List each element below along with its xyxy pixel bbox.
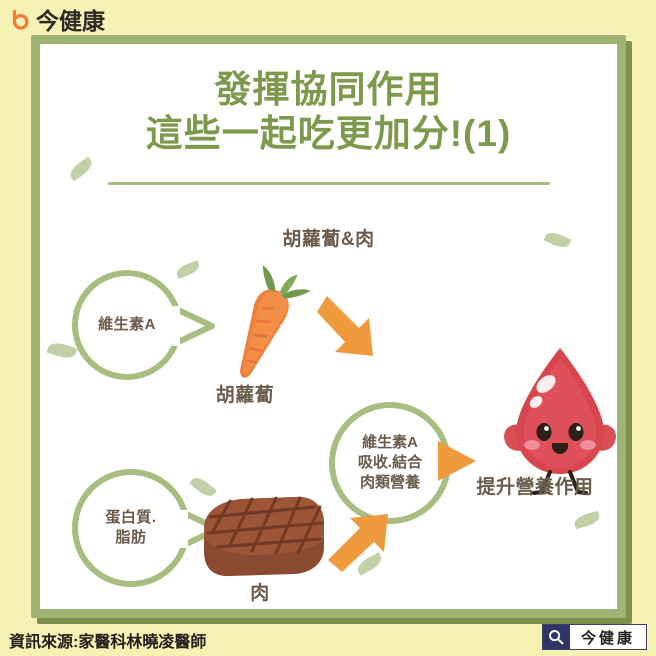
title-line-1: 發揮協同作用: [40, 68, 617, 112]
search-icon[interactable]: [543, 625, 570, 649]
page-header: 今健康: [8, 4, 105, 38]
arrow-meat-to-center-icon: [318, 474, 414, 576]
result-label: 提升營養作用: [445, 476, 617, 500]
title-line-2: 這些一起吃更加分!(1): [40, 112, 617, 156]
arrow-carrot-to-center-icon: [315, 286, 411, 386]
carrot-icon: [204, 266, 322, 396]
infographic-card: 發揮協同作用 這些一起吃更加分!(1) 胡蘿蔔&肉 維生素A: [31, 35, 626, 618]
protein-fat-bubble-label: 蛋白質. 脂肪: [105, 508, 156, 549]
leaf-decoration-icon: [175, 260, 201, 279]
steak-icon: [186, 487, 332, 587]
vitamin-a-bubble-label: 維生素A: [98, 315, 156, 335]
search-badge[interactable]: 今健康: [542, 624, 647, 650]
leaf-decoration-icon: [47, 340, 78, 361]
search-brand-label[interactable]: 今健康: [570, 625, 646, 649]
b-logo-icon: [8, 9, 32, 33]
title-divider: [108, 182, 550, 185]
leaf-decoration-icon: [573, 511, 601, 529]
protein-fat-bubble: 蛋白質. 脂肪: [72, 469, 190, 587]
leaf-decoration-icon: [67, 157, 95, 182]
pair-label: 胡蘿蔔&肉: [40, 228, 617, 252]
carrot-label: 胡蘿蔔: [180, 384, 310, 408]
brand-name: 今健康: [36, 10, 105, 33]
card-inner: 發揮協同作用 這些一起吃更加分!(1) 胡蘿蔔&肉 維生素A: [40, 44, 617, 609]
meat-label: 肉: [200, 582, 320, 606]
page-title: 發揮協同作用 這些一起吃更加分!(1): [40, 68, 617, 155]
page-footer: 資訊來源:家醫科林曉凌醫師 今健康: [0, 620, 656, 656]
source-credit: 資訊來源:家醫科林曉凌醫師: [9, 628, 206, 652]
vitamin-a-bubble: 維生素A: [72, 270, 182, 380]
